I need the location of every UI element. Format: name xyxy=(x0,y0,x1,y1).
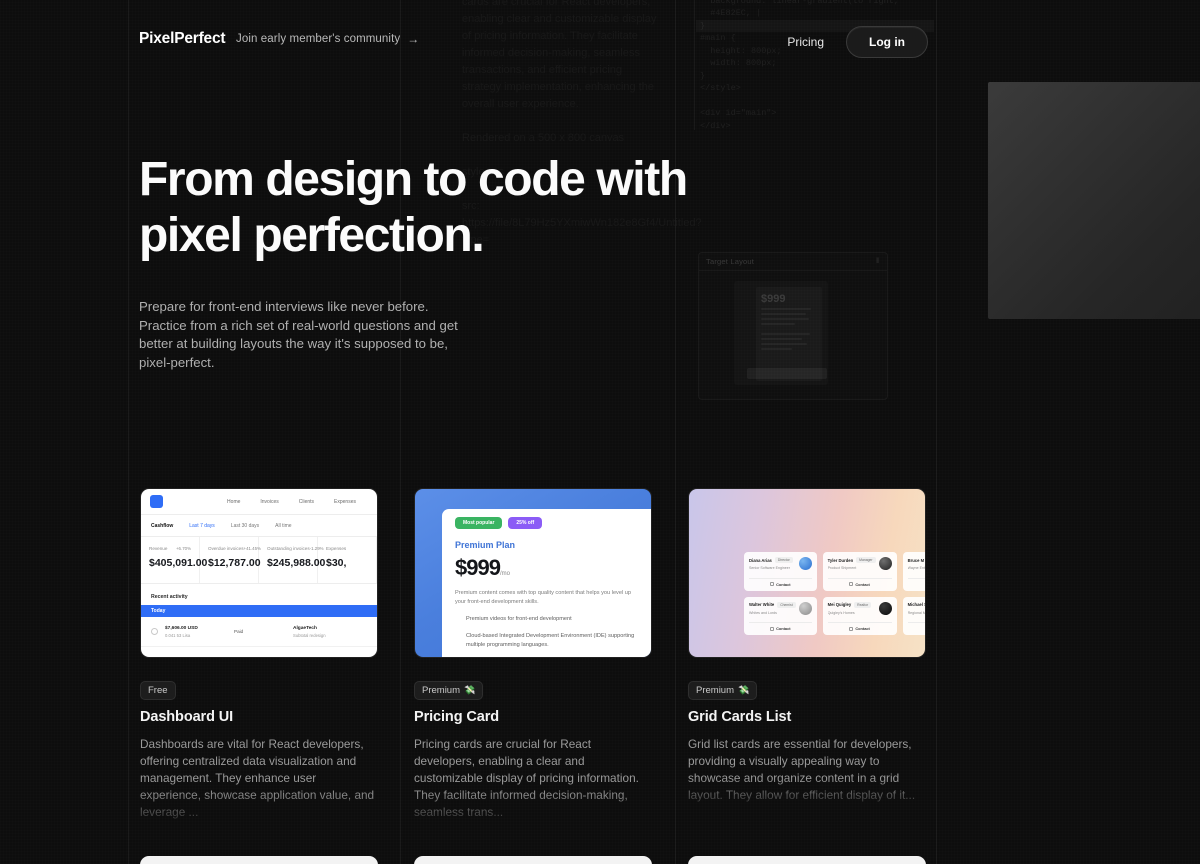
contact-role: Regional Manager xyxy=(908,611,926,615)
activity-amount: $7,606.00 USD xyxy=(165,626,227,631)
contact-role: Quigley's Homes xyxy=(828,611,876,615)
pricing-amount-value: $999 xyxy=(455,555,500,580)
contact-button-label: Contact xyxy=(855,582,869,587)
contact-role: Whites and Lords xyxy=(749,611,796,615)
pricing-mock-card: Most popular 25% off Premium Plan $999/m… xyxy=(442,509,651,657)
status-badge: Premium 💸 xyxy=(688,681,757,700)
header-nav: Pricing Log in xyxy=(781,26,928,58)
dashboard-kpi-row: Revenue +6.70% $405,091.00 Overdue invoi… xyxy=(141,537,377,584)
kpi-label: Outstanding invoices xyxy=(267,546,310,551)
contact-button: Contact xyxy=(828,578,892,587)
card-description: Grid list cards are essential for develo… xyxy=(688,736,926,804)
grid-line xyxy=(128,0,129,864)
target-layout-panel: Target Layout ‖ $999 xyxy=(698,252,888,400)
activity-group-header: Today xyxy=(141,605,377,617)
contact-tag: Director xyxy=(775,557,793,563)
pricing-period: /mo xyxy=(500,571,510,577)
target-layout-title: Target Layout xyxy=(706,257,754,266)
status-badge: Free xyxy=(140,681,176,700)
dashboard-nav: Home Invoices Clients Expenses xyxy=(227,499,368,505)
avatar xyxy=(879,557,892,570)
dashboard-tabs: Cashflow Last 7 days Last 30 days All ti… xyxy=(141,515,377,537)
activity-group-label: Today xyxy=(151,608,165,614)
dashboard-topbar: Home Invoices Clients Expenses xyxy=(141,489,377,515)
kpi-label: Revenue xyxy=(149,546,167,551)
contact-name: Diana Arias xyxy=(749,558,772,563)
kpi-tile: Overdue invoices +41.45% $12,787.00 xyxy=(200,537,259,583)
dashboard-nav-item: Clients xyxy=(299,499,314,505)
contact-role: Product Shipment xyxy=(828,566,876,570)
next-card-preview[interactable] xyxy=(414,856,652,864)
hero-heading-line-2: pixel perfection. xyxy=(139,209,483,262)
contact-card: Michael Scott VP Co Regional Manager Con… xyxy=(903,597,926,636)
avatar xyxy=(799,602,812,615)
contact-card: Mei Quigley Realtor Quigley's Homes Cont… xyxy=(823,597,897,636)
contact-card: Bruce M Entrepreneur Wayne Enterprises C… xyxy=(903,552,926,591)
kpi-tile: Expenses $30, xyxy=(318,537,377,583)
dashboard-nav-item: Invoices xyxy=(260,499,278,505)
activity-row: $12,089.00 USD Withdraw Tyler Durden xyxy=(141,647,377,658)
contact-name: Mei Quigley xyxy=(828,602,852,607)
brand-logo[interactable]: PixelPerfect xyxy=(139,30,225,48)
contact-button-label: Contact xyxy=(855,626,869,631)
contact-button: Contact xyxy=(908,578,926,587)
target-layout-titlebar: Target Layout ‖ xyxy=(699,253,887,271)
contact-button: Contact xyxy=(749,622,812,631)
dashboard-nav-item: Home xyxy=(227,499,240,505)
hero-heading-line-1: From design to code with xyxy=(139,153,687,206)
pricing-feature: Cloud-based Integrated Development Envir… xyxy=(466,632,638,650)
activity-title: Recent activity xyxy=(141,584,377,605)
card-title: Grid Cards List xyxy=(688,709,926,725)
mail-icon xyxy=(770,627,774,631)
contact-tag: Manager xyxy=(856,557,875,563)
page-title: From design to code with pixel perfectio… xyxy=(139,152,687,264)
activity-name: AlgaeTech xyxy=(293,626,367,631)
kpi-delta: +6.70% xyxy=(176,546,191,551)
badge-most-popular: Most popular xyxy=(455,517,502,529)
join-community-link[interactable]: Join early member's community → xyxy=(236,32,419,46)
money-emoji-icon: 💸 xyxy=(464,685,475,696)
money-emoji-icon: 💸 xyxy=(738,685,749,696)
next-card-preview[interactable] xyxy=(140,856,378,864)
hero-section: From design to code with pixel perfectio… xyxy=(139,152,687,372)
status-badge: Premium 💸 xyxy=(414,681,483,700)
mail-icon xyxy=(770,582,774,586)
dashboard-section-title: Cashflow xyxy=(151,523,173,529)
avatar xyxy=(799,557,812,570)
product-card[interactable]: Home Invoices Clients Expenses Cashflow … xyxy=(140,488,414,821)
status-dot-icon xyxy=(151,628,158,635)
badge-label: Premium xyxy=(422,685,460,696)
site-header: PixelPerfect Join early member's communi… xyxy=(0,0,1200,72)
grip-icon: ‖ xyxy=(876,258,880,265)
badge-discount: 25% off xyxy=(508,517,542,529)
activity-tag: Paid xyxy=(234,629,268,634)
activity-subtext: Subtotal redesign xyxy=(293,633,367,638)
avatar xyxy=(879,602,892,615)
corner-gradient-panel xyxy=(988,82,1200,319)
landing-page: cards are crucial for React developers, … xyxy=(0,0,1200,864)
contact-button-label: Contact xyxy=(776,582,790,587)
card-title: Pricing Card xyxy=(414,709,652,725)
contact-button-label: Contact xyxy=(776,626,790,631)
product-card[interactable]: Diana Arias Director Senior Software Eng… xyxy=(688,488,962,804)
contact-button: Contact xyxy=(828,622,892,631)
pricing-amount: $999/mo xyxy=(455,555,638,581)
pricing-badges: Most popular 25% off xyxy=(455,517,638,529)
arrow-right-icon: → xyxy=(407,32,419,46)
card-meta: Free Dashboard UI Dashboards are vital f… xyxy=(140,658,378,821)
product-card[interactable]: Most popular 25% off Premium Plan $999/m… xyxy=(414,488,688,821)
pricing-feature: Premium videos for front-end development xyxy=(466,615,638,624)
badge-label: Premium xyxy=(696,685,734,696)
contact-name: Bruce M xyxy=(908,558,925,563)
mail-icon xyxy=(849,627,853,631)
card-title: Dashboard UI xyxy=(140,709,378,725)
kpi-tile: Revenue +6.70% $405,091.00 xyxy=(141,537,200,583)
card-preview-dashboard[interactable]: Home Invoices Clients Expenses Cashflow … xyxy=(140,488,378,658)
next-card-preview[interactable] xyxy=(688,856,926,864)
contact-tag: Realtor xyxy=(854,602,871,608)
login-button[interactable]: Log in xyxy=(846,26,928,58)
contact-tag: Chemist xyxy=(777,602,795,608)
nav-pricing-link[interactable]: Pricing xyxy=(781,31,830,53)
dashboard-mock: Home Invoices Clients Expenses Cashflow … xyxy=(141,489,377,657)
card-meta: Premium 💸 Pricing Card Pricing cards are… xyxy=(414,658,652,821)
target-layout-card: $999 xyxy=(756,287,822,381)
mail-icon xyxy=(849,582,853,586)
dashboard-nav-item: Expenses xyxy=(334,499,356,505)
contact-role: Wayne Enterprises xyxy=(908,566,926,570)
kpi-label: Overdue invoices xyxy=(208,546,244,551)
contact-button: Contact xyxy=(908,622,926,631)
pricing-paragraph: Premium content comes with top quality c… xyxy=(455,589,638,607)
kpi-value: $245,988.00 xyxy=(267,557,309,569)
grid-mock-cards: Diana Arias Director Senior Software Eng… xyxy=(744,552,926,635)
contact-card: Walter White Chemist Whites and Lords Co… xyxy=(744,597,817,636)
card-description: Dashboards are vital for React developer… xyxy=(140,736,378,821)
kpi-value: $405,091.00 xyxy=(149,557,191,569)
contact-button: Contact xyxy=(749,578,812,587)
contact-card: Diana Arias Director Senior Software Eng… xyxy=(744,552,817,591)
target-layout-price: $999 xyxy=(761,293,817,305)
kpi-value: $30, xyxy=(326,557,368,569)
card-description: Pricing cards are crucial for React deve… xyxy=(414,736,652,821)
activity-subtext: 0.041 53 Lisa xyxy=(165,633,227,638)
kpi-label: Expenses xyxy=(326,546,346,551)
badge-label: Free xyxy=(148,685,168,696)
kpi-value: $12,787.00 xyxy=(208,557,250,569)
contact-name: Michael Scott xyxy=(908,602,926,607)
dashboard-tab: Last 7 days xyxy=(189,523,215,529)
contact-name: Walter White xyxy=(749,602,774,607)
dashboard-tab: Last 30 days xyxy=(231,523,259,529)
contact-card: Tyler Durden Manager Product Shipment Co… xyxy=(823,552,897,591)
pricing-plan-name: Premium Plan xyxy=(455,540,638,550)
card-preview-pricing[interactable]: Most popular 25% off Premium Plan $999/m… xyxy=(414,488,652,658)
card-preview-grid-cards[interactable]: Diana Arias Director Senior Software Eng… xyxy=(688,488,926,658)
contact-role: Senior Software Engineer xyxy=(749,566,796,570)
card-meta: Premium 💸 Grid Cards List Grid list card… xyxy=(688,658,926,804)
join-community-label: Join early member's community xyxy=(236,33,400,45)
contact-name: Tyler Durden xyxy=(828,558,854,563)
dashboard-tab: All time xyxy=(275,523,291,529)
app-logo-icon xyxy=(150,495,163,508)
hero-paragraph: Prepare for front-end interviews like ne… xyxy=(139,298,479,372)
target-layout-button xyxy=(747,368,827,379)
activity-row: $7,606.00 USD 0.041 53 Lisa Paid AlgaeTe… xyxy=(141,617,377,647)
kpi-tile: Outstanding invoices -1.29% $245,988.00 xyxy=(259,537,318,583)
target-layout-phone: $999 xyxy=(734,281,828,385)
